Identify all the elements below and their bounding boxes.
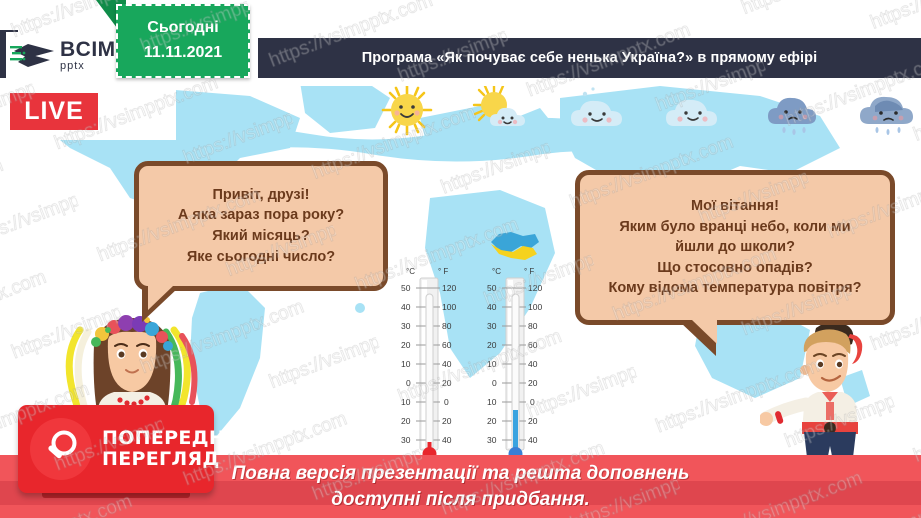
today-label: Сьогодні (147, 16, 218, 41)
thermometer-red: °C ° F 504030 20100 102030 12010080 6040… (398, 264, 460, 460)
header-underline-strip (258, 78, 921, 86)
svg-text:40: 40 (528, 359, 538, 369)
svg-text:50: 50 (401, 283, 411, 293)
svg-text:20: 20 (487, 416, 497, 426)
logo-subtext: pptx (60, 61, 116, 72)
ukraine-flag-marker (487, 228, 543, 262)
storm-cloud-angry-icon (855, 82, 921, 138)
dark-cloud-sad-icon (760, 82, 826, 138)
svg-text:0: 0 (444, 397, 449, 407)
preview-badge-line2: ПЕРЕГЛЯД (102, 449, 249, 470)
svg-text:100: 100 (528, 302, 542, 312)
svg-text:10: 10 (401, 359, 411, 369)
svg-text:120: 120 (442, 283, 456, 293)
svg-text:30: 30 (401, 435, 411, 445)
svg-text:40: 40 (442, 435, 452, 445)
svg-text:120: 120 (528, 283, 542, 293)
svg-text:10: 10 (487, 397, 497, 407)
cloud-happy-icon (565, 82, 631, 138)
svg-text:50: 50 (487, 283, 497, 293)
svg-text:° F: ° F (524, 267, 534, 276)
magnifier-icon (30, 418, 92, 480)
bubble-line: йшли до школи? (675, 237, 795, 258)
left-bubble-tail-fill (148, 286, 173, 310)
svg-text:20: 20 (401, 340, 411, 350)
bottom-banner-line2: доступні після придбання. (331, 487, 590, 513)
svg-text:20: 20 (442, 416, 452, 426)
svg-text:30: 30 (487, 321, 497, 331)
bottom-banner-line1: Повна версія презентації та решта доповн… (232, 461, 690, 487)
svg-text:10: 10 (487, 359, 497, 369)
bubble-line: Який місяць? (212, 226, 310, 247)
bubble-line: Мої вітання! (691, 196, 779, 217)
svg-text:100: 100 (442, 302, 456, 312)
slide-canvas: Програма «Як почуває себе ненька Україна… (0, 0, 921, 518)
svg-text:30: 30 (487, 435, 497, 445)
boy-in-vyshyvanka (760, 310, 900, 470)
svg-text:20: 20 (528, 378, 538, 388)
preview-badge[interactable]: ПОПЕРЕДНІЙ ПЕРЕГЛЯД (18, 405, 214, 493)
svg-text:20: 20 (442, 378, 452, 388)
svg-text:40: 40 (487, 302, 497, 312)
svg-text:0: 0 (530, 397, 535, 407)
svg-text:° F: ° F (438, 267, 448, 276)
svg-text:80: 80 (442, 321, 452, 331)
logo-wordmark: BCIM (60, 39, 116, 60)
svg-text:40: 40 (442, 359, 452, 369)
today-date: 11.11.2021 (144, 41, 222, 66)
right-bubble-tail-fill (692, 320, 717, 344)
bubble-line: А яка зараз пора року? (178, 205, 344, 226)
program-header-bar: Програма «Як почуває себе ненька Україна… (258, 38, 921, 78)
svg-text:60: 60 (528, 340, 538, 350)
svg-text:°C: °C (406, 267, 415, 276)
sun-smiling-icon (374, 82, 440, 138)
live-badge: LIVE (10, 93, 98, 130)
svg-text:0: 0 (492, 378, 497, 388)
preview-badge-line1: ПОПЕРЕДНІЙ (102, 428, 249, 449)
page-title: Програма «Як почуває себе ненька Україна… (362, 50, 818, 66)
svg-text:30: 30 (401, 321, 411, 331)
bubble-line: Кому відома температура повітря? (609, 278, 862, 299)
svg-text:40: 40 (528, 435, 538, 445)
girl-speech-bubble: Привіт, друзі! А яка зараз пора року? Як… (134, 161, 388, 291)
svg-text:80: 80 (528, 321, 538, 331)
svg-text:20: 20 (487, 340, 497, 350)
weather-icon-row (360, 82, 921, 138)
sun-behind-cloud-icon (470, 82, 536, 138)
svg-text:0: 0 (406, 378, 411, 388)
bubble-line: Яким було вранці небо, коли ми (619, 217, 850, 238)
cloud-smiling-icon (660, 82, 726, 138)
live-label: LIVE (24, 97, 84, 126)
bubble-line: Привіт, друзі! (212, 185, 309, 206)
bubble-line: Яке сьогодні число? (187, 247, 335, 268)
svg-text:60: 60 (442, 340, 452, 350)
svg-text:20: 20 (528, 416, 538, 426)
svg-text:°C: °C (492, 267, 501, 276)
graduation-cap-icon (10, 38, 58, 72)
svg-text:40: 40 (401, 302, 411, 312)
thermometer-blue: °C ° F 504030 20100 102030 12010080 6040… (484, 264, 546, 460)
bubble-line: Що стосовно опадів? (657, 258, 812, 279)
svg-text:20: 20 (401, 416, 411, 426)
boy-speech-bubble: Мої вітання! Яким було вранці небо, коли… (575, 170, 895, 325)
today-date-badge: Сьогодні 11.11.2021 (116, 4, 250, 78)
svg-text:10: 10 (401, 397, 411, 407)
